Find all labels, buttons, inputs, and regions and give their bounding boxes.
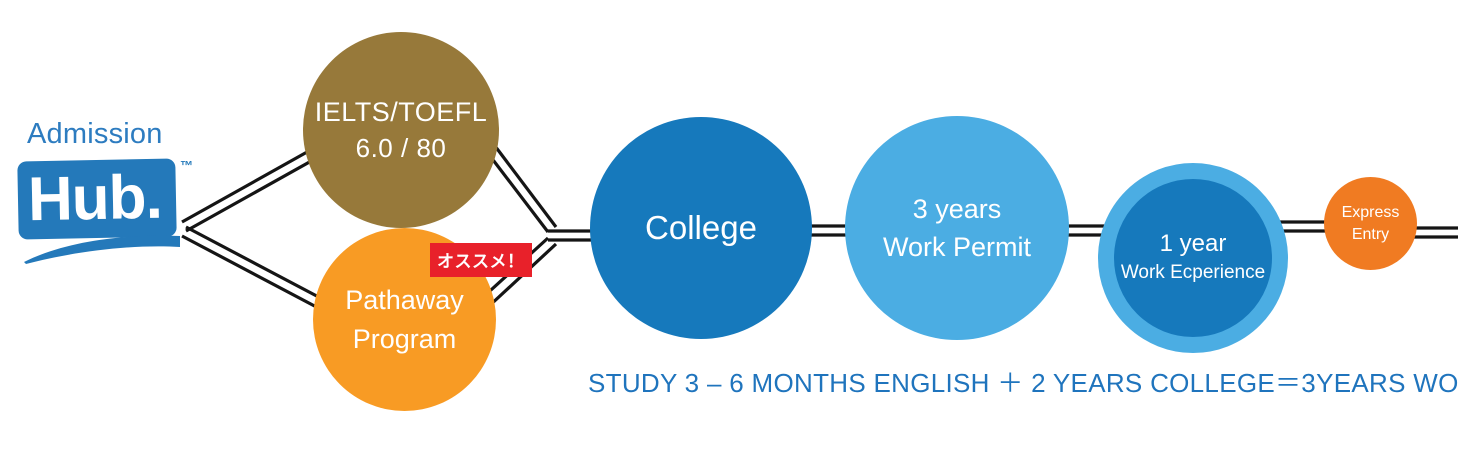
node-work-experience[interactable]: 1 year Work Ecperience — [1098, 163, 1288, 353]
trademark-symbol: ™ — [180, 158, 193, 173]
logo-swoosh-icon — [22, 230, 182, 264]
node-express-entry-line-1: Express — [1342, 202, 1400, 224]
logo-admission-text: Admission — [27, 118, 163, 151]
admission-hub-logo: Admission Hub. ™ — [18, 118, 198, 278]
diagram-canvas: Admission Hub. ™ IELTS/TOEFL 6.0 / 80 Pa… — [0, 0, 1458, 458]
recommended-badge[interactable]: オススメ！ — [430, 243, 532, 277]
node-work-permit-line-1: 3 years — [913, 190, 1002, 228]
node-work-permit[interactable]: 3 years Work Permit — [845, 116, 1069, 340]
node-work-experience-line-2: Work Ecperience — [1121, 259, 1265, 287]
connector-ielts-to-junction — [487, 152, 548, 232]
node-pathway-line-2: Program — [353, 320, 457, 359]
logo-mark: Hub. — [18, 160, 176, 238]
node-express-entry[interactable]: Express Entry — [1324, 177, 1417, 270]
summary-caption: STUDY 3 – 6 MONTHS ENGLISH ＋ 2 YEARS COL… — [588, 363, 1458, 400]
node-college-label: College — [645, 208, 757, 248]
node-ielts-line-2: 6.0 / 80 — [356, 130, 447, 166]
node-work-experience-line-1: 1 year — [1160, 229, 1227, 259]
node-pathway-line-1: Pathaway — [345, 281, 464, 320]
node-college[interactable]: College — [590, 117, 812, 339]
node-work-permit-line-2: Work Permit — [883, 228, 1031, 266]
node-ielts-toefl[interactable]: IELTS/TOEFL 6.0 / 80 — [303, 32, 499, 228]
node-express-entry-line-2: Entry — [1352, 224, 1389, 246]
logo-hub-text: Hub. — [27, 163, 162, 236]
node-ielts-line-1: IELTS/TOEFL — [315, 94, 488, 130]
